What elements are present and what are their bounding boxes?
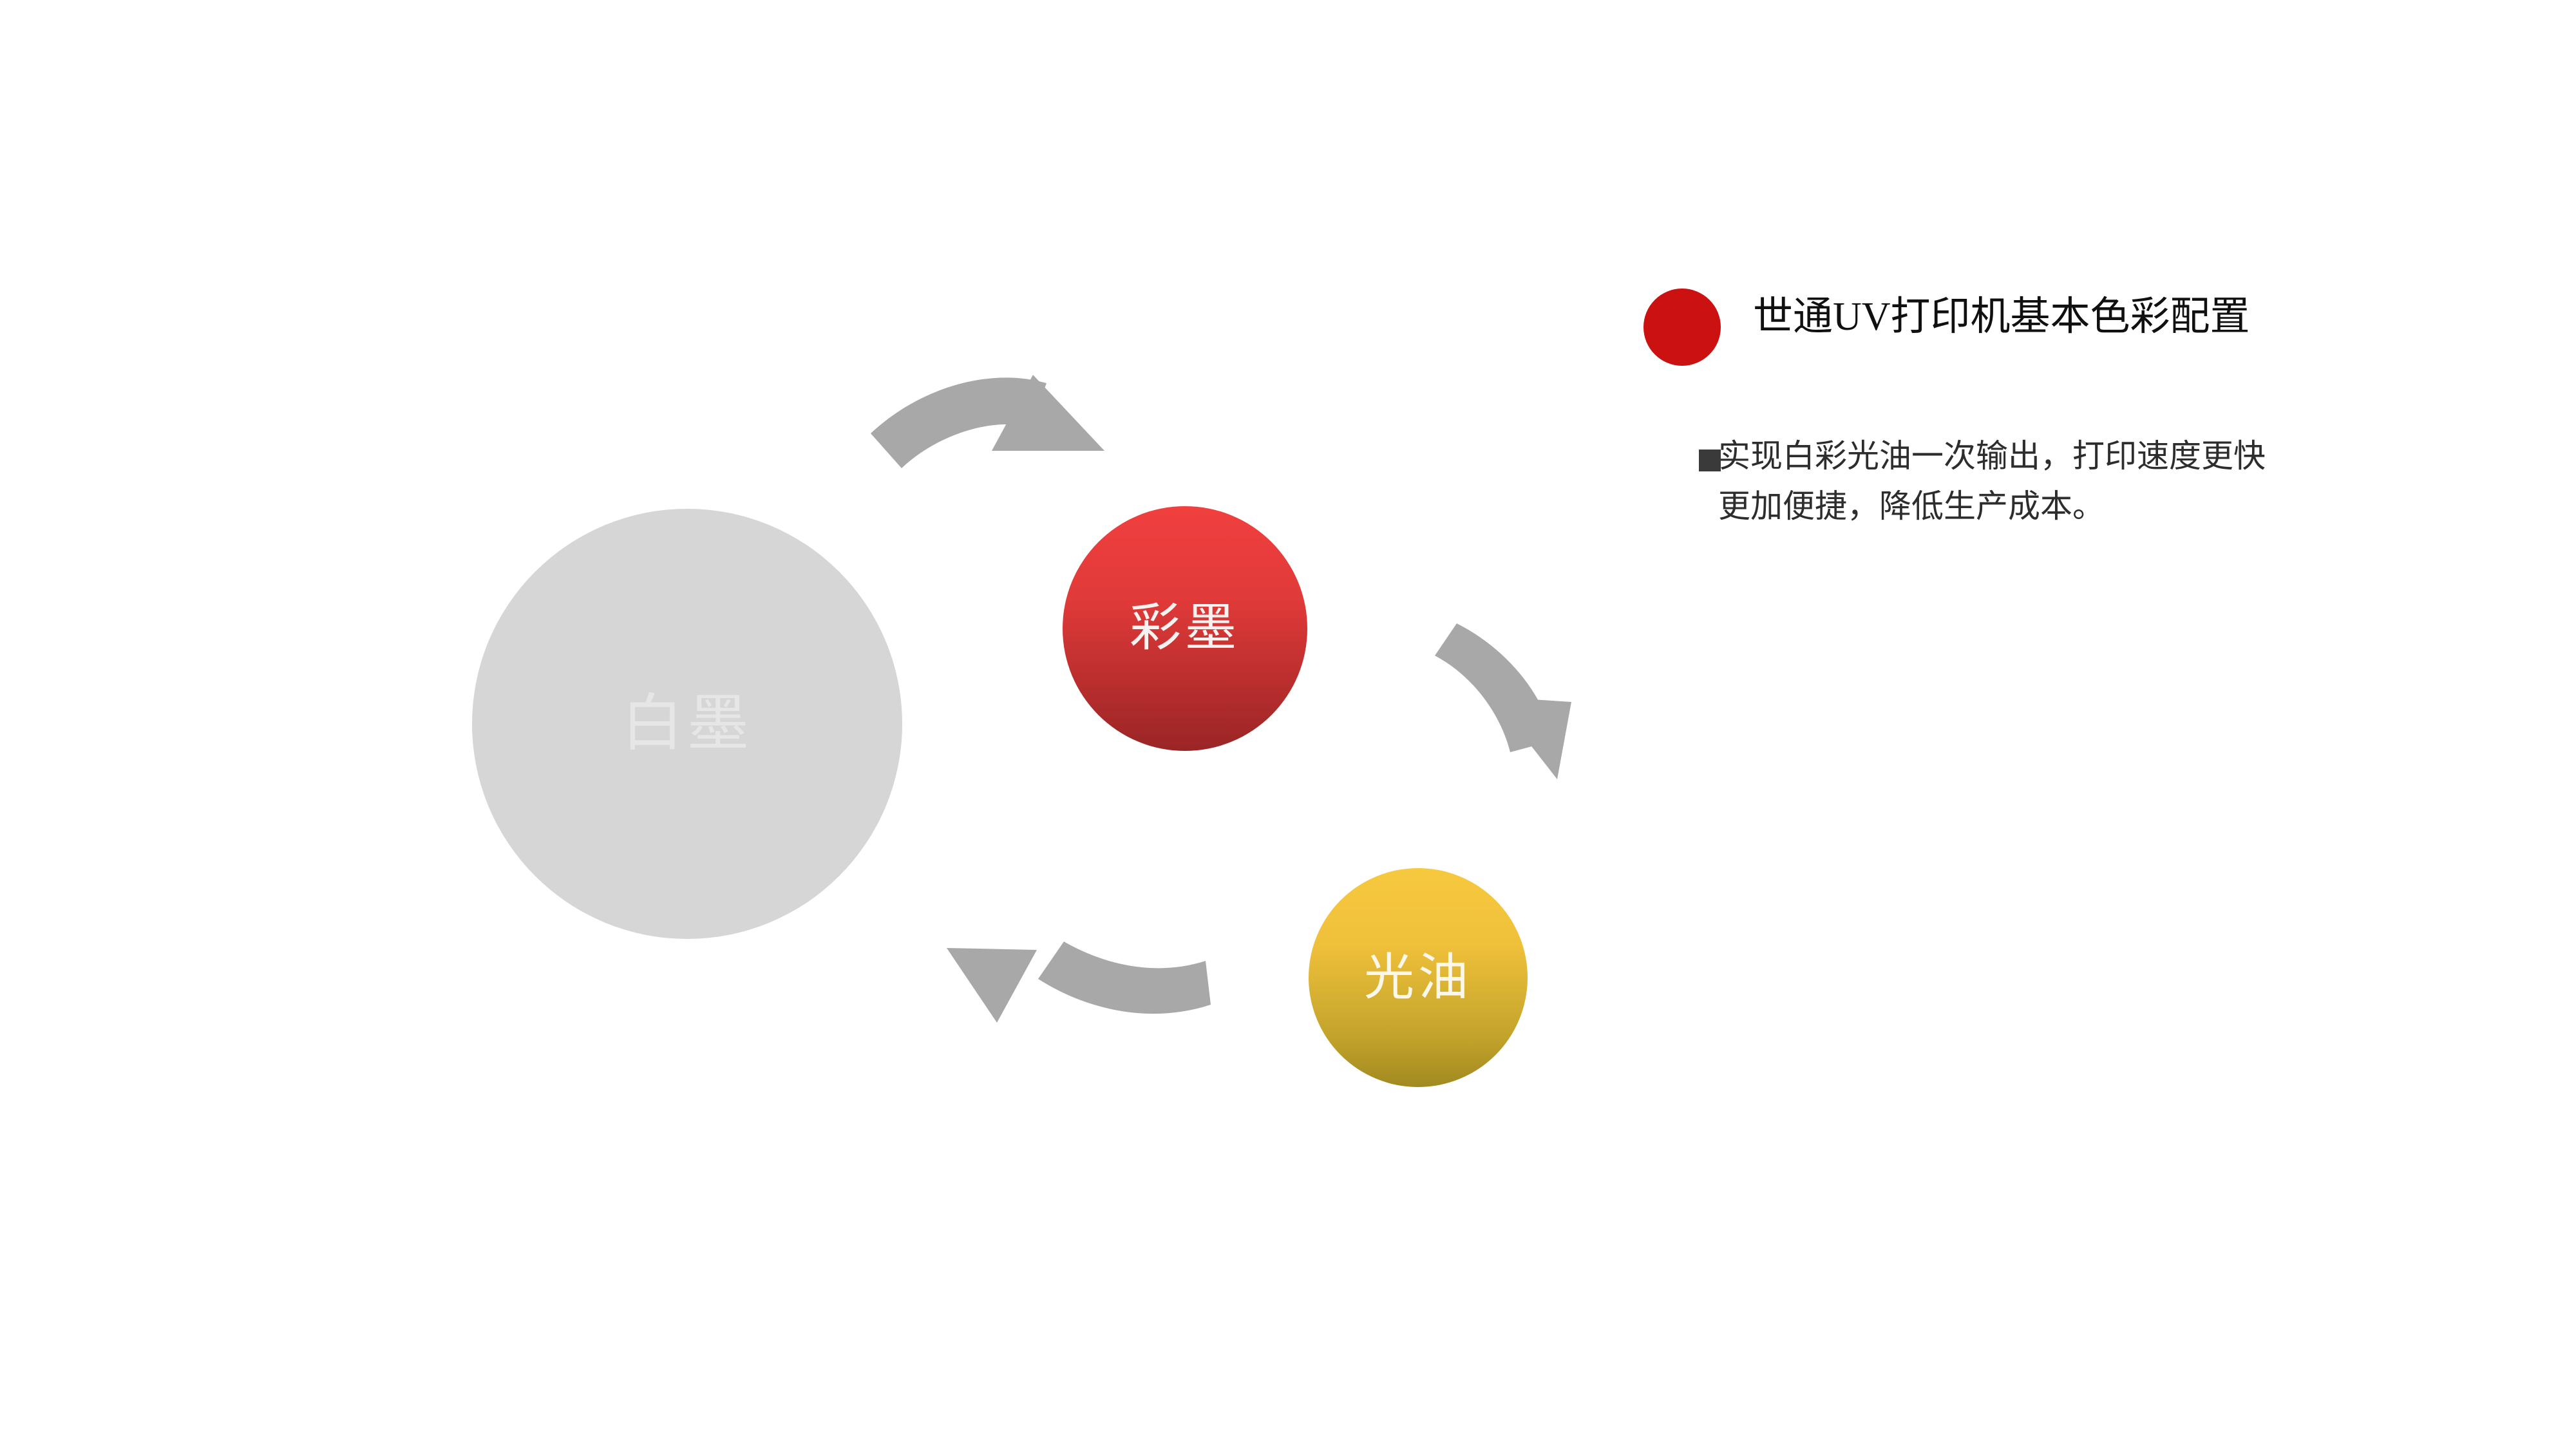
panel-headline: 世通UV打印机基本色彩配置: [1753, 295, 2250, 339]
bullet-text: 实现白彩光油一次输出，打印速度更快更加便捷，降低生产成本。: [1718, 431, 2285, 531]
slide-canvas: 白墨 彩墨 光油 世通UV打印机基本色彩配置 实现白彩光油一次输出，打印速度更快…: [0, 0, 2576, 1449]
node-white-ink[interactable]: 白墨: [472, 509, 902, 939]
node-varnish-label: 光油: [1364, 952, 1472, 1003]
info-panel: 世通UV打印机基本色彩配置 实现白彩光油一次输出，打印速度更快更加便捷，降低生产…: [1636, 277, 2409, 531]
arrow-color-to-varnish-icon: [1435, 623, 1571, 779]
square-bullet-icon: [1699, 450, 1721, 471]
bullet-row: 实现白彩光油一次输出，打印速度更快更加便捷，降低生产成本。: [1636, 431, 2409, 531]
red-dot-icon: [1643, 289, 1721, 366]
arrow-varnish-to-white-icon: [947, 942, 1211, 1023]
node-color-ink-label: 彩墨: [1130, 603, 1240, 654]
node-varnish[interactable]: 光油: [1309, 868, 1528, 1087]
color-cycle-diagram: 白墨 彩墨 光油: [0, 0, 1610, 1449]
node-white-ink-label: 白墨: [621, 693, 753, 755]
headline-row: 世通UV打印机基本色彩配置: [1636, 277, 2409, 374]
node-color-ink[interactable]: 彩墨: [1063, 506, 1307, 751]
arrow-white-to-color-icon: [871, 375, 1104, 468]
